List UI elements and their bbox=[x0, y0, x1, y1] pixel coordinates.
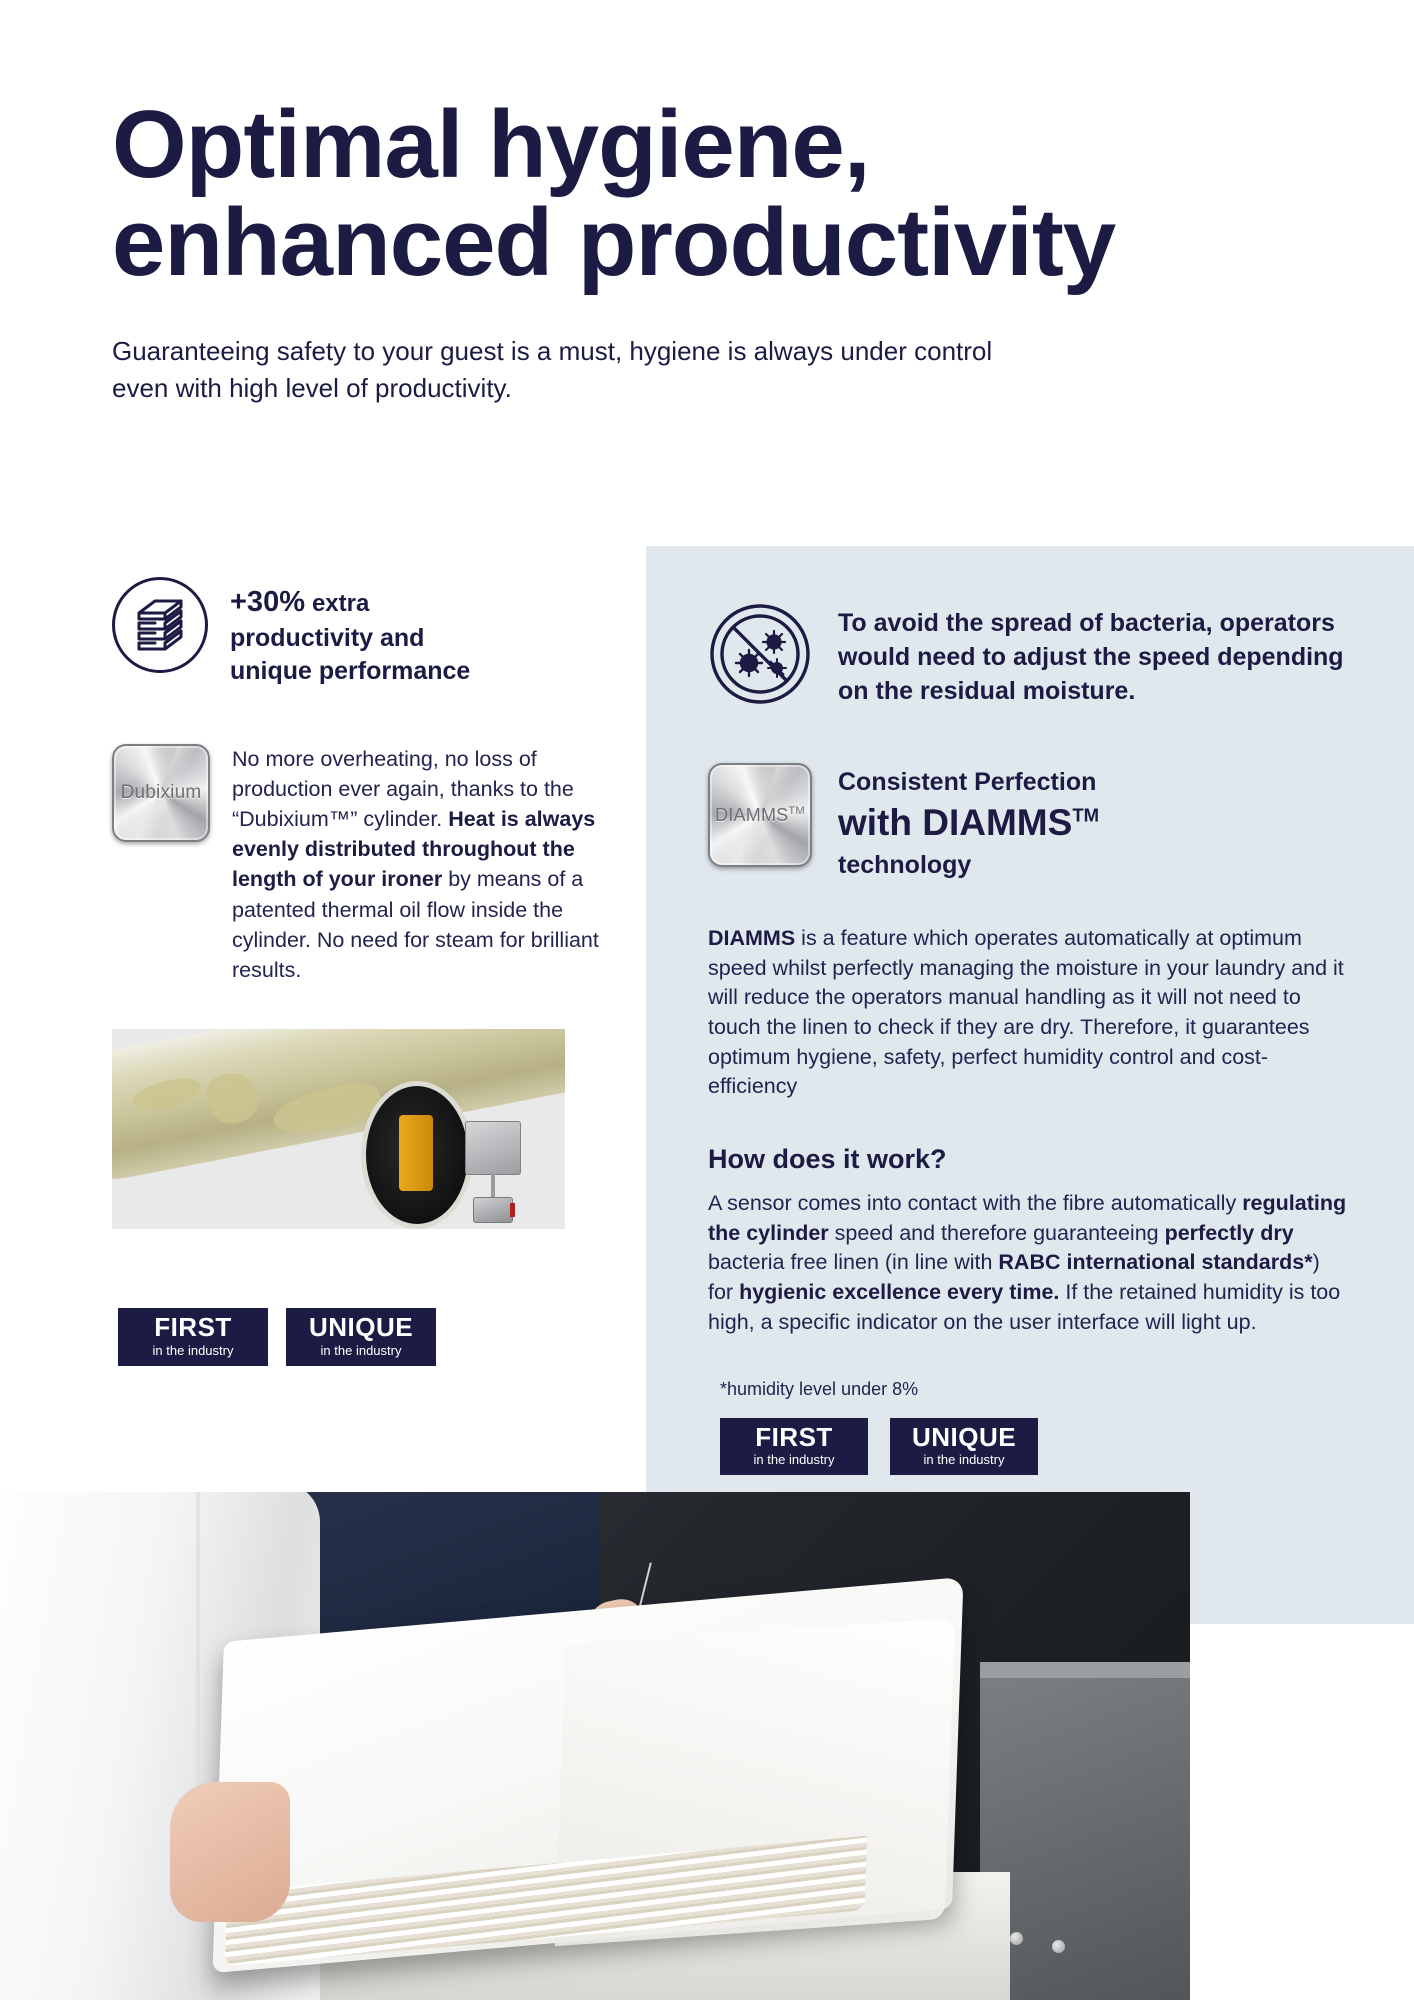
photo-coat-seam bbox=[196, 1492, 200, 2000]
page-root: Optimal hygiene, enhanced productivity G… bbox=[0, 0, 1414, 2000]
humidity-footnote: *humidity level under 8% bbox=[720, 1379, 1348, 1400]
diamms-description-paragraph: DIAMMS is a feature which operates autom… bbox=[708, 924, 1348, 1102]
cylinder-junction-box bbox=[465, 1121, 521, 1175]
photo-ironer-machine bbox=[980, 1662, 1190, 2000]
panel-content: To avoid the spread of bacteria, operato… bbox=[708, 600, 1348, 1475]
diamms-badge-tm: TM bbox=[788, 805, 805, 817]
productivity-feature-heading: +30% extra productivity and unique perfo… bbox=[230, 575, 470, 688]
badge-first-title: FIRST bbox=[154, 1314, 232, 1341]
diamms-badge-label: DIAMMSTM bbox=[715, 805, 805, 826]
productivity-line3: unique performance bbox=[230, 657, 470, 685]
badge-first: FIRST in the industry bbox=[118, 1308, 268, 1366]
how-plain-2: speed and therefore guaranteeing bbox=[829, 1221, 1165, 1245]
diamms-heading-block: Consistent Perfection with DIAMMSTM tech… bbox=[838, 763, 1099, 880]
dubixium-metal-badge: Dubixium bbox=[112, 744, 210, 842]
no-bacteria-icon bbox=[708, 602, 812, 706]
diamms-feature: DIAMMSTM Consistent Perfection with DIAM… bbox=[708, 763, 1348, 880]
stacked-linen-icon bbox=[112, 577, 208, 673]
badge-unique-title: UNIQUE bbox=[309, 1314, 413, 1341]
photo-operator-hand-left bbox=[170, 1782, 290, 1922]
photo-ironer-machine-top bbox=[980, 1662, 1190, 1678]
productivity-extra-label: extra bbox=[312, 590, 369, 617]
dubixium-feature: Dubixium No more overheating, no loss of… bbox=[112, 744, 612, 985]
diamms-line2: with DIAMMSTM bbox=[838, 800, 1099, 845]
operator-holding-folded-linen-photo bbox=[0, 1492, 1190, 2000]
diamms-description-bold: DIAMMS bbox=[708, 926, 795, 950]
bacteria-feature: To avoid the spread of bacteria, operato… bbox=[708, 600, 1348, 708]
badge-first-subtitle: in the industry bbox=[153, 1344, 234, 1358]
diamms-metal-badge: DIAMMSTM bbox=[708, 763, 812, 867]
photo-machine-screw bbox=[1052, 1940, 1065, 1953]
left-badge-row: FIRST in the industry UNIQUE in the indu… bbox=[118, 1308, 436, 1366]
diamms-line2-tm: TM bbox=[1072, 805, 1099, 826]
diamms-description-plain: is a feature which operates automaticall… bbox=[708, 926, 1344, 1098]
how-bold-4: hygienic excellence every time. bbox=[739, 1280, 1059, 1304]
diamms-line1: Consistent Perfection bbox=[838, 767, 1099, 797]
page-subtitle: Guaranteeing safety to your guest is a m… bbox=[112, 333, 1172, 407]
how-plain-3: bacteria free linen (in line with bbox=[708, 1250, 998, 1274]
badge-unique: UNIQUE in the industry bbox=[286, 1308, 436, 1366]
badge-first-subtitle: in the industry bbox=[754, 1453, 835, 1467]
cylinder-inner-plate bbox=[399, 1115, 433, 1191]
cylinder-valve bbox=[473, 1197, 513, 1223]
dubixium-badge-label: Dubixium bbox=[121, 782, 202, 804]
diamms-badge-text: DIAMMS bbox=[715, 805, 788, 825]
how-bold-2: perfectly dry bbox=[1165, 1221, 1294, 1245]
badge-unique-subtitle: in the industry bbox=[924, 1453, 1005, 1467]
cylinder-cutaway-photo bbox=[112, 1029, 565, 1229]
how-it-works-title: How does it work? bbox=[708, 1144, 1348, 1175]
how-bold-3: RABC international standards* bbox=[998, 1250, 1312, 1274]
diamms-line3: technology bbox=[838, 850, 1099, 880]
productivity-percent: +30% bbox=[230, 586, 305, 618]
page-title: Optimal hygiene, enhanced productivity bbox=[112, 96, 1402, 292]
bacteria-feature-heading: To avoid the spread of bacteria, operato… bbox=[838, 600, 1348, 708]
diamms-line2-text: with DIAMMS bbox=[838, 802, 1072, 843]
how-plain-1: A sensor comes into contact with the fib… bbox=[708, 1191, 1242, 1215]
header: Optimal hygiene, enhanced productivity bbox=[112, 96, 1402, 292]
badge-first-title: FIRST bbox=[755, 1424, 833, 1451]
badge-unique-title: UNIQUE bbox=[912, 1424, 1016, 1451]
badge-unique: UNIQUE in the industry bbox=[890, 1418, 1038, 1475]
badge-unique-subtitle: in the industry bbox=[321, 1344, 402, 1358]
left-column: +30% extra productivity and unique perfo… bbox=[112, 575, 612, 1229]
how-it-works-paragraph: A sensor comes into contact with the fib… bbox=[708, 1189, 1348, 1337]
productivity-feature: +30% extra productivity and unique perfo… bbox=[112, 575, 612, 688]
dubixium-paragraph: No more overheating, no loss of producti… bbox=[232, 744, 612, 985]
right-badge-row: FIRST in the industry UNIQUE in the indu… bbox=[720, 1418, 1348, 1475]
productivity-line2: productivity and bbox=[230, 624, 424, 652]
badge-first: FIRST in the industry bbox=[720, 1418, 868, 1475]
cylinder-valve-indicator bbox=[510, 1203, 515, 1217]
photo-machine-screw bbox=[1010, 1932, 1023, 1945]
